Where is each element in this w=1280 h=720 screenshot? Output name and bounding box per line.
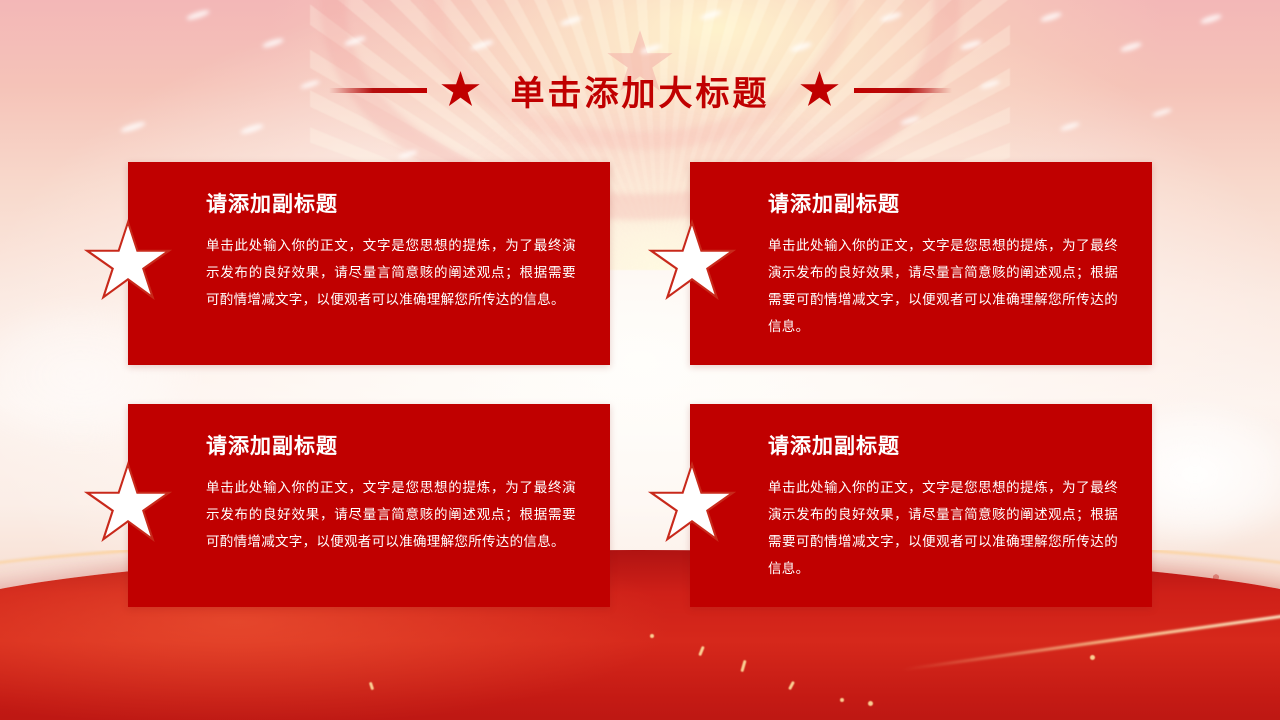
content-card-1[interactable]: 请添加副标题 单击此处输入你的正文，文字是您思想的提炼，为了最终演示发布的良好效…: [128, 162, 610, 365]
slide-title-bar: 单击添加大标题: [0, 62, 1280, 118]
card-title: 请添加副标题: [768, 430, 1118, 460]
page-title: 单击添加大标题: [495, 66, 786, 115]
slide-canvas: 单击添加大标题 请添加副标题 单击此处输入你的正文，文字是您思想的提炼，为了最终…: [0, 0, 1280, 720]
card-title: 请添加副标题: [768, 188, 1118, 218]
gold-particle: [1090, 655, 1095, 660]
card-body-text: 单击此处输入你的正文，文字是您思想的提炼，为了最终演示发布的良好效果，请尽量言简…: [768, 474, 1118, 582]
title-rule-left-icon: [329, 88, 427, 93]
title-rule-right-icon: [854, 88, 952, 93]
gold-particle: [840, 698, 844, 702]
gold-particle: [650, 634, 654, 638]
card-title: 请添加副标题: [206, 430, 576, 460]
card-body-text: 单击此处输入你的正文，文字是您思想的提炼，为了最终演示发布的良好效果，请尽量言简…: [768, 232, 1118, 340]
content-card-2[interactable]: 请添加副标题 单击此处输入你的正文，文字是您思想的提炼，为了最终演示发布的良好效…: [690, 162, 1152, 365]
card-title: 请添加副标题: [206, 188, 576, 218]
card-body-text: 单击此处输入你的正文，文字是您思想的提炼，为了最终演示发布的良好效果，请尽量言简…: [206, 232, 576, 313]
card-body-text: 单击此处输入你的正文，文字是您思想的提炼，为了最终演示发布的良好效果，请尽量言简…: [206, 474, 576, 555]
star-icon-right: [800, 71, 840, 109]
gold-particle: [868, 701, 873, 706]
star-icon-left: [441, 71, 481, 109]
content-card-4[interactable]: 请添加副标题 单击此处输入你的正文，文字是您思想的提炼，为了最终演示发布的良好效…: [690, 404, 1152, 607]
content-card-3[interactable]: 请添加副标题 单击此处输入你的正文，文字是您思想的提炼，为了最终演示发布的良好效…: [128, 404, 610, 607]
